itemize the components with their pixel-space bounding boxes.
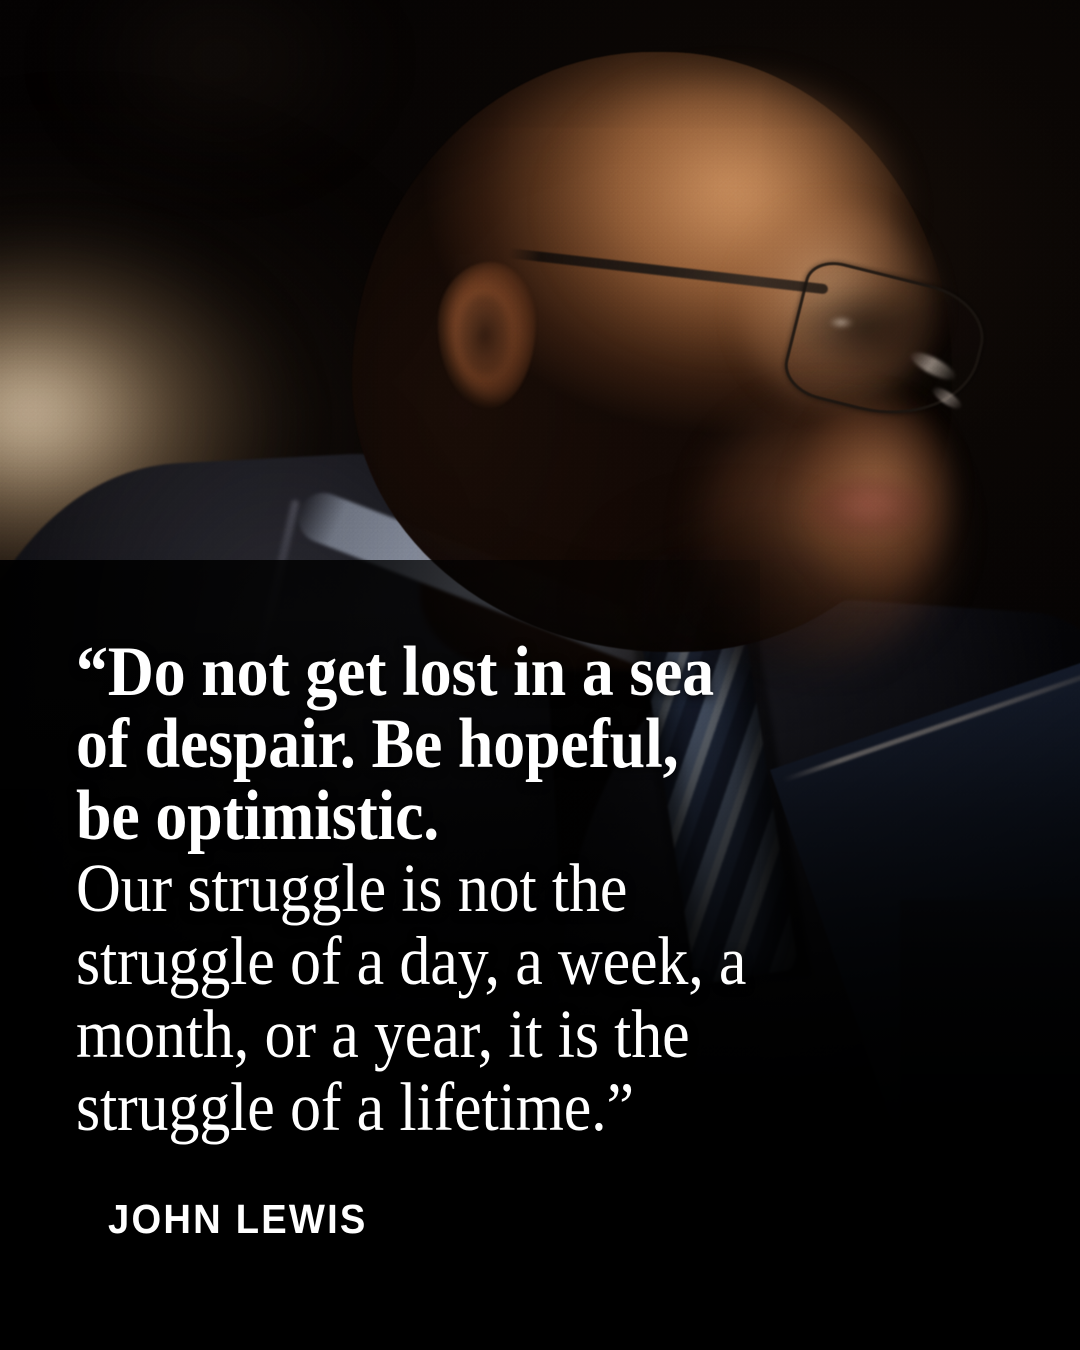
quote-emphasis-line-2: of despair. Be hopeful, bbox=[76, 708, 877, 780]
quote-body-line-4: struggle of a lifetime.” bbox=[76, 1071, 877, 1144]
quote-emphasis-line-1: “Do not get lost in a sea bbox=[76, 636, 877, 708]
text-layer: “Do not get lost in a sea of despair. Be… bbox=[0, 0, 1080, 1350]
quote-emphasis-line-3: be optimistic. bbox=[76, 780, 877, 852]
quote-body-line-3: month, or a year, it is the bbox=[76, 998, 877, 1071]
quote-body-line-2: struggle of a day, a week, a bbox=[76, 925, 877, 998]
quote-body-line-1: Our struggle is not the bbox=[76, 852, 877, 925]
quote-block: “Do not get lost in a sea of despair. Be… bbox=[76, 636, 966, 1144]
attribution-name: JOHN LEWIS bbox=[108, 1196, 368, 1242]
quote-card: “Do not get lost in a sea of despair. Be… bbox=[0, 0, 1080, 1350]
